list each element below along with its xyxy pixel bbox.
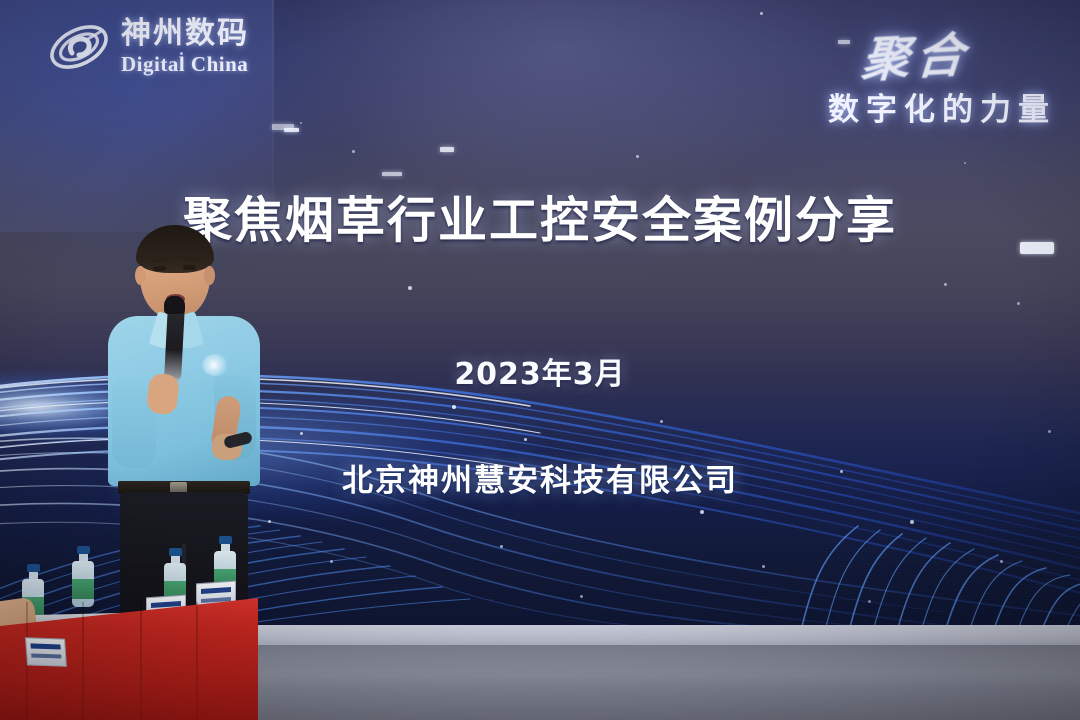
speaker-ear-left — [135, 266, 146, 285]
panel-table — [0, 560, 270, 720]
brand-logo: 神州数码 Digital China — [46, 16, 249, 78]
bottle-cap — [219, 536, 232, 544]
speaker-eye-left — [153, 266, 166, 272]
bottle-cap — [27, 564, 40, 572]
name-card — [25, 637, 67, 667]
bottle-cap — [169, 548, 182, 556]
speaker-eye-right — [183, 265, 196, 271]
microphone-head-icon — [164, 296, 185, 314]
table-cloth-fold — [140, 602, 142, 720]
slogan-brush-text: 聚合 — [859, 15, 972, 91]
conference-photo: 神州数码 Digital China 聚合 数字化的力量 聚焦烟草行业工控安全案… — [0, 0, 1080, 720]
bottle-neck — [221, 544, 230, 551]
name-card-bar — [201, 587, 231, 594]
speaker-ear-right — [204, 266, 215, 285]
event-slogan: 聚合 数字化的力量 — [828, 18, 1056, 129]
brand-name-en: Digital China — [121, 54, 249, 75]
digital-china-swirl-icon — [46, 16, 112, 78]
slogan-sub-text: 数字化的力量 — [828, 84, 1056, 129]
brand-name-cn: 神州数码 — [121, 19, 249, 49]
water-bottle — [72, 546, 94, 607]
bottle-body — [72, 561, 94, 607]
bottle-neck — [79, 554, 88, 561]
table-cloth-fold — [196, 602, 198, 720]
bottle-neck — [171, 556, 180, 563]
speaker-hair — [136, 225, 214, 273]
name-card-bar — [30, 643, 60, 649]
bottle-label — [72, 579, 94, 599]
bottle-neck — [29, 572, 38, 579]
speaker-chest-logo-icon — [202, 354, 228, 376]
name-card-bar — [31, 653, 61, 658]
table-cloth-fold — [82, 602, 84, 720]
bottle-cap — [77, 546, 90, 554]
